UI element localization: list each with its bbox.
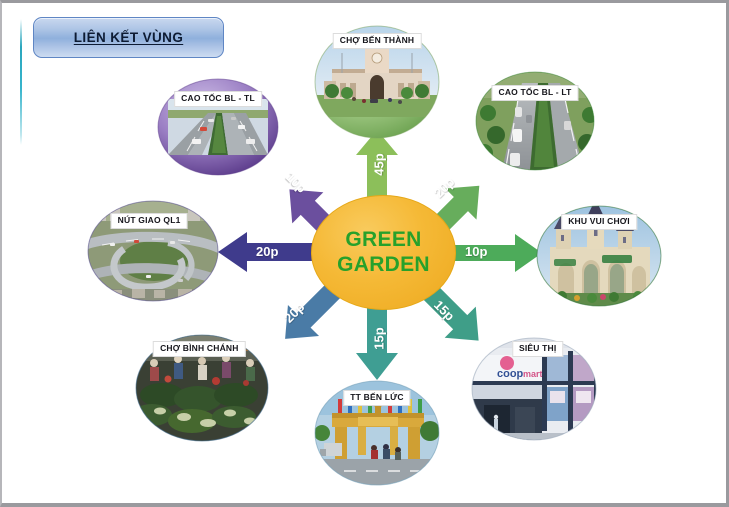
node-sieu-thi[interactable]: SIÊU THỊ: [472, 338, 596, 440]
slide-canvas: LIÊN KẾT VÙNG: [0, 0, 729, 507]
node-nut-giao-ql1[interactable]: NÚT GIAO QL1: [88, 201, 218, 301]
arrow-label-left: 20p: [256, 244, 278, 259]
node-label-sieu-thi: SIÊU THỊ: [512, 341, 564, 357]
arrow-label-right: 10p: [465, 244, 487, 259]
hub-label-line2: GARDEN: [337, 253, 430, 277]
node-cao-toc-bl-lt[interactable]: CAO TỐC BL - LT: [476, 72, 594, 170]
node-cho-ben-thanh[interactable]: CHỢ BẾN THÀNH: [315, 26, 439, 138]
node-label-khu-vui-choi: KHU VUI CHƠI: [561, 214, 637, 230]
node-label-cho-binh-chanh: CHỢ BÌNH CHÁNH: [153, 341, 246, 357]
hub-green-garden: GREEN GARDEN: [311, 195, 456, 310]
node-khu-vui-choi[interactable]: KHU VUI CHƠI: [537, 206, 661, 306]
arrow-right: [449, 234, 542, 272]
node-cao-toc-bl-tl[interactable]: CAO TỐC BL - TL: [158, 79, 278, 175]
arrow-label-bottom: 15p: [372, 327, 387, 349]
node-label-cao-toc-bl-lt: CAO TỐC BL - LT: [491, 85, 578, 101]
node-label-tt-ben-luc: TT BẾN LỨC: [343, 390, 410, 406]
node-label-cao-toc-bl-tl: CAO TỐC BL - TL: [174, 91, 262, 107]
node-cho-binh-chanh[interactable]: CHỢ BÌNH CHÁNH: [136, 335, 268, 441]
arrow-label-top: 45p: [372, 153, 387, 175]
node-label-cho-ben-thanh: CHỢ BẾN THÀNH: [333, 33, 422, 49]
hub-label-line1: GREEN: [345, 228, 421, 252]
node-label-nut-giao-ql1: NÚT GIAO QL1: [111, 213, 188, 229]
node-tt-ben-luc[interactable]: TT BẾN LỨC: [315, 381, 439, 485]
